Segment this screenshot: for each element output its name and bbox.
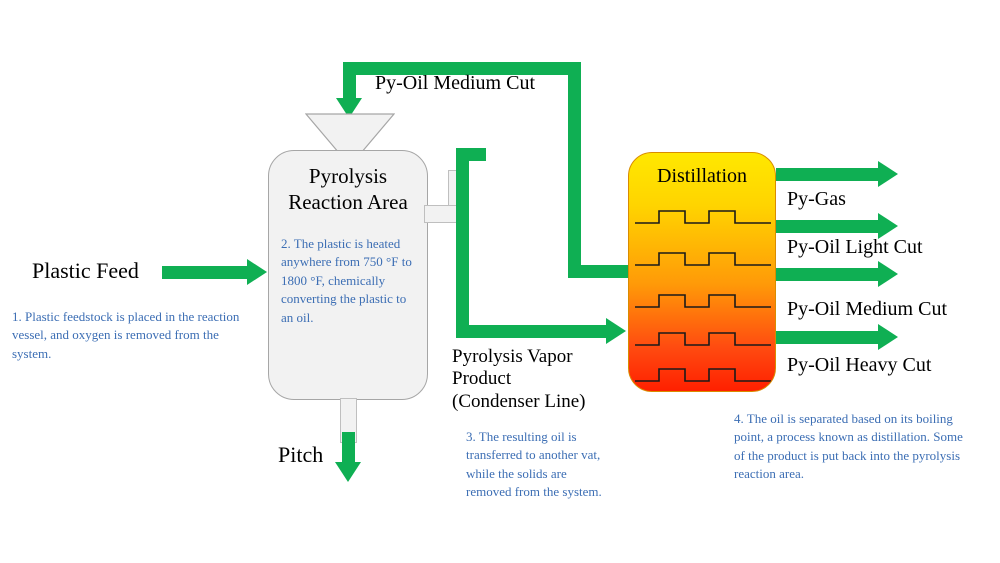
process-flow-diagram: Py-Oil Medium Cut Pyrolysis Reaction Are… (0, 0, 1000, 563)
condenser-line-top-elbow (456, 148, 486, 161)
product-arrow-shaft-py-oil-light (776, 220, 880, 233)
column-tray (629, 245, 776, 271)
pitch-arrowhead (335, 462, 361, 482)
condenser-line-riser (456, 148, 469, 338)
process-note-4: 4. The oil is separated based on its boi… (734, 410, 974, 484)
product-arrow-shaft-py-oil-heavy (776, 331, 880, 344)
process-note-3: 3. The resulting oil is transferred to a… (466, 428, 614, 502)
recycle-stream-label: Py-Oil Medium Cut (375, 72, 535, 96)
column-title: Distillation (629, 165, 775, 188)
condenser-line-bottom-run (456, 325, 608, 338)
plastic-feed-arrowhead (247, 259, 267, 285)
vessel-note: 2. The plastic is heated anywhere from 7… (281, 235, 419, 327)
vessel-title: Pyrolysis Reaction Area (269, 164, 427, 215)
product-arrowhead-py-gas (878, 161, 898, 187)
column-tray (629, 287, 776, 313)
pitch-arrow-shaft (342, 432, 355, 464)
column-tray (629, 203, 776, 229)
plastic-feed-label: Plastic Feed (32, 258, 139, 284)
product-label-py-oil-heavy: Py-Oil Heavy Cut (787, 354, 931, 378)
condenser-line-arrowhead (606, 318, 626, 344)
process-note-1: 1. Plastic feedstock is placed in the re… (12, 308, 260, 363)
recycle-line-riser (568, 62, 581, 278)
product-arrow-shaft-py-gas (776, 168, 880, 181)
pitch-label: Pitch (278, 442, 323, 468)
pyrolysis-reaction-vessel: Pyrolysis Reaction Area 2. The plastic i… (268, 150, 428, 400)
product-arrowhead-py-oil-heavy (878, 324, 898, 350)
column-tray (629, 325, 776, 351)
distillation-column: Distillation (628, 152, 776, 392)
product-label-py-oil-medium: Py-Oil Medium Cut (787, 298, 947, 322)
product-label-py-oil-light: Py-Oil Light Cut (787, 236, 923, 260)
product-arrowhead-py-oil-medium (878, 261, 898, 287)
product-label-py-gas: Py-Gas (787, 188, 846, 212)
product-arrow-shaft-py-oil-medium (776, 268, 880, 281)
condenser-stream-label: Pyrolysis Vapor Product (Condenser Line) (452, 346, 585, 413)
plastic-feed-arrow-shaft (162, 266, 248, 279)
recycle-line-drop (343, 62, 356, 100)
column-tray (629, 361, 776, 387)
